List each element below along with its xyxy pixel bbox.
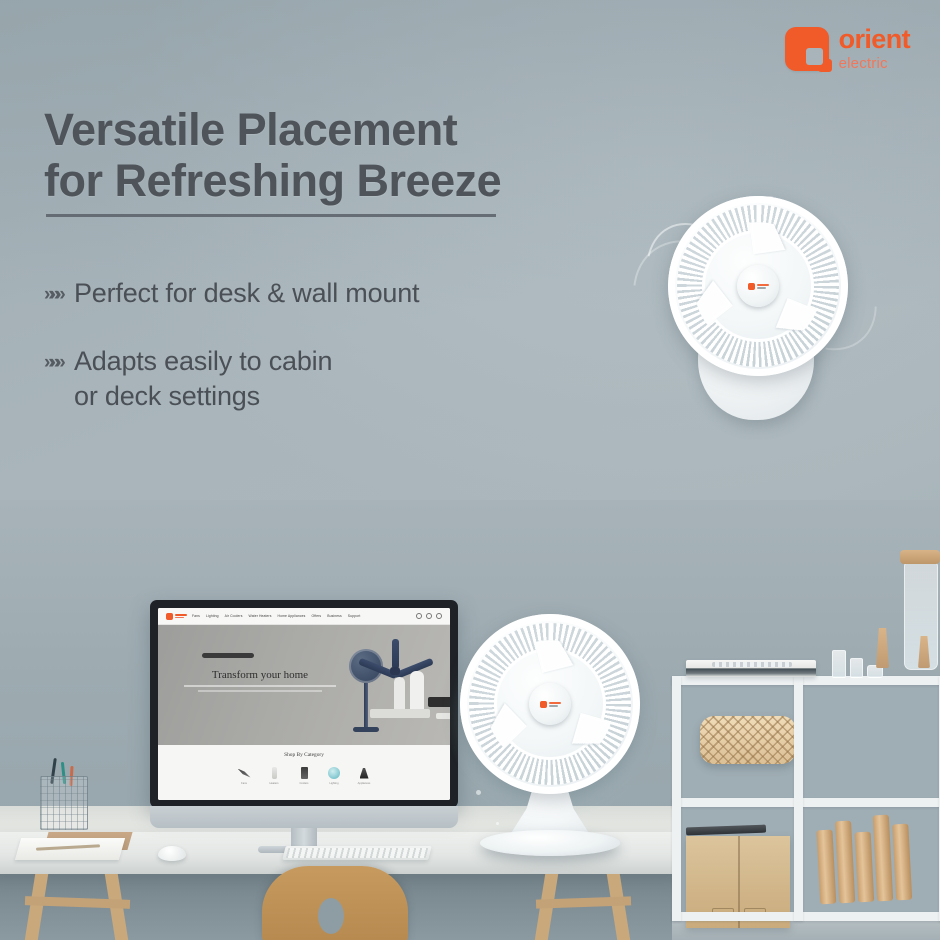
decor-shelf [370,709,430,718]
desk-table-fan [466,614,634,860]
headline-line-2: for Refreshing Breeze [44,155,604,206]
keyboard [282,846,431,860]
website-logo-mark-icon [166,613,173,620]
category-label: Fans [236,782,252,785]
light-icon [326,765,342,781]
hero-subtext [184,685,336,687]
hero-badge [202,653,254,658]
search-icon[interactable] [416,613,422,619]
orient-logo-mark-icon [785,27,829,71]
chevron-marker-icon: »»» [44,285,74,304]
cart-icon[interactable] [436,613,442,619]
chevron-marker-icon: »»» [44,353,74,372]
category-list[interactable]: Fans Heaters Coolers [158,765,450,785]
fan-hub [529,683,571,725]
feature-text: Adapts easily to cabin or deck settings [74,344,332,415]
paper-tubes [816,814,912,905]
hero-subtext [198,690,322,692]
website-hero: Transform your home [158,625,450,745]
fan-base [480,830,620,856]
hub-logo-icon [748,283,769,290]
headline-line-1: Versatile Placement [44,104,457,155]
list-item: »»» Perfect for desk & wall mount [44,276,514,312]
nav-item[interactable]: Water Heaters [249,614,272,618]
nav-item[interactable]: Air Coolers [225,614,243,618]
nav-item[interactable]: Support [348,614,361,618]
brand-logo-text: orient electric [839,26,910,71]
account-icon[interactable] [426,613,432,619]
sparkle [496,822,499,825]
nav-item[interactable]: Fans [192,614,200,618]
air-cooler-icon [296,765,312,781]
monitor-chin [150,806,458,828]
promo-image: orient electric Versatile Placement for … [0,0,940,940]
nav-item[interactable]: Business [327,614,342,618]
shelf-cubby [803,685,939,798]
notepad [15,838,125,860]
shelf-side [672,676,681,921]
shop-section-title: Shop By Category [158,752,450,758]
category-label: Heaters [266,782,282,785]
hub-logo-icon [540,701,561,708]
shelving-unit [672,676,940,940]
nav-item[interactable]: Lighting [206,614,219,618]
hero-title: Transform your home [180,669,340,681]
desktop-monitor: Fans Lighting Air Coolers Water Heaters … [150,600,458,840]
feature-list: »»» Perfect for desk & wall mount »»» Ad… [44,276,514,447]
nav-item[interactable]: Home Appliances [278,614,306,618]
website-shop-section: Shop By Category Fans Heaters [158,745,450,800]
nav-item[interactable]: Offers [311,614,321,618]
wall-mounted-fan [662,196,858,426]
sparkle [604,764,608,768]
brand-logo: orient electric [785,26,910,71]
sparkle [476,790,481,795]
category-item[interactable]: Heaters [266,765,282,785]
website-logo [166,613,187,620]
rattan-box [700,716,796,764]
appliance-icon [356,765,372,781]
list-item: »»» Adapts easily to cabin or deck setti… [44,344,514,415]
chair-handle-cutout [318,898,344,934]
brand-sub: electric [839,56,910,71]
shelf-board [672,912,940,921]
page-title: Versatile Placement for Refreshing Breez… [44,104,604,207]
headline-underline [46,214,496,217]
fan-head [668,196,848,376]
monitor-screen: Fans Lighting Air Coolers Water Heaters … [158,608,450,800]
carafe-lid [900,550,940,564]
website-nav-actions[interactable] [416,613,442,619]
fan-head [460,614,640,794]
glass [850,658,863,678]
feature-text: Perfect for desk & wall mount [74,276,419,312]
book-band [712,662,792,667]
category-item[interactable]: Coolers [296,765,312,785]
category-item[interactable]: Fans [236,765,252,785]
website-navbar: Fans Lighting Air Coolers Water Heaters … [158,608,450,625]
category-item[interactable]: Appliances [356,765,372,785]
drinking-glasses [832,650,883,678]
category-label: Lighting [326,782,342,785]
brand-name: orient [839,26,910,53]
water-heater-icon [266,765,282,781]
shelf-divider [794,676,803,921]
shelf-board [672,798,940,807]
glass [832,650,846,678]
fan-hub [737,265,779,307]
category-item[interactable]: Lighting [326,765,342,785]
category-label: Coolers [296,782,312,785]
pen-holder [40,776,88,830]
category-label: Appliances [356,782,372,785]
ceiling-fan-icon [236,765,252,781]
website-menu[interactable]: Fans Lighting Air Coolers Water Heaters … [192,614,360,618]
website-page: Fans Lighting Air Coolers Water Heaters … [158,608,450,800]
shelf-board [672,676,940,685]
monitor-bezel: Fans Lighting Air Coolers Water Heaters … [150,600,458,808]
computer-mouse [158,846,186,861]
